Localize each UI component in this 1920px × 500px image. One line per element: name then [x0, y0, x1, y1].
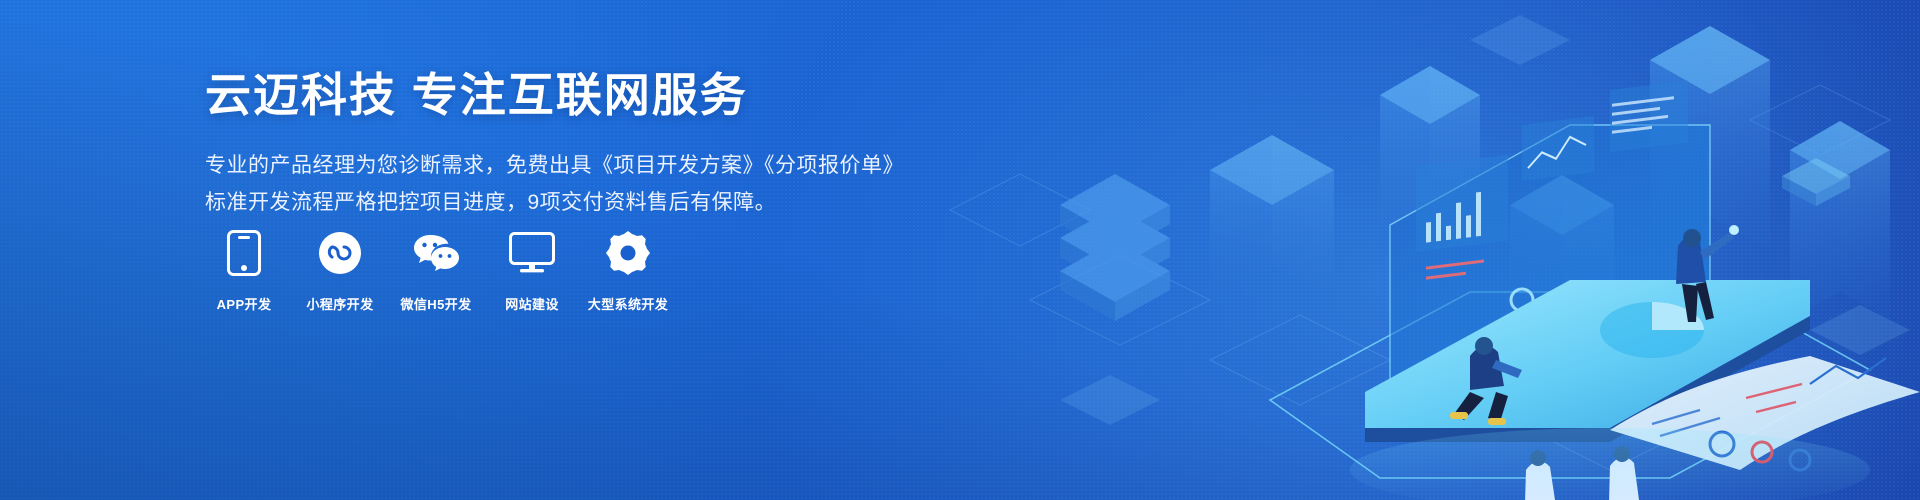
service-label: APP开发 [217, 294, 272, 313]
service-item-wechat-h5[interactable]: 微信H5开发 [397, 230, 475, 313]
service-item-website[interactable]: 网站建设 [493, 230, 571, 313]
monitor-icon [509, 230, 555, 276]
service-label: 小程序开发 [306, 294, 373, 313]
service-item-mini-program[interactable]: 小程序开发 [301, 230, 379, 313]
service-item-app[interactable]: APP开发 [205, 230, 283, 313]
service-list: APP开发 小程序开发 微信 [205, 230, 667, 313]
service-label: 网站建设 [505, 294, 559, 313]
wechat-icon [413, 230, 459, 276]
illustration [910, 0, 1920, 500]
banner-subtitle: 专业的产品经理为您诊断需求，免费出具《项目开发方案》《分项报价单》 标准开发流程… [205, 148, 904, 222]
banner-copy: 云迈科技 专注互联网服务 专业的产品经理为您诊断需求，免费出具《项目开发方案》《… [205, 68, 904, 222]
gear-icon [605, 230, 651, 276]
service-item-large-system[interactable]: 大型系统开发 [589, 230, 667, 313]
mini-program-icon [317, 230, 363, 276]
subtitle-line-1: 专业的产品经理为您诊断需求，免费出具《项目开发方案》《分项报价单》 [205, 148, 904, 185]
page-title: 云迈科技 专注互联网服务 [205, 68, 904, 122]
hero-banner: 云迈科技 专注互联网服务 专业的产品经理为您诊断需求，免费出具《项目开发方案》《… [0, 0, 1920, 500]
mobile-phone-icon [221, 230, 267, 276]
subtitle-line-2: 标准开发流程严格把控项目进度，9项交付资料售后有保障。 [205, 185, 904, 222]
service-label: 大型系统开发 [588, 294, 668, 313]
service-label: 微信H5开发 [400, 294, 471, 313]
